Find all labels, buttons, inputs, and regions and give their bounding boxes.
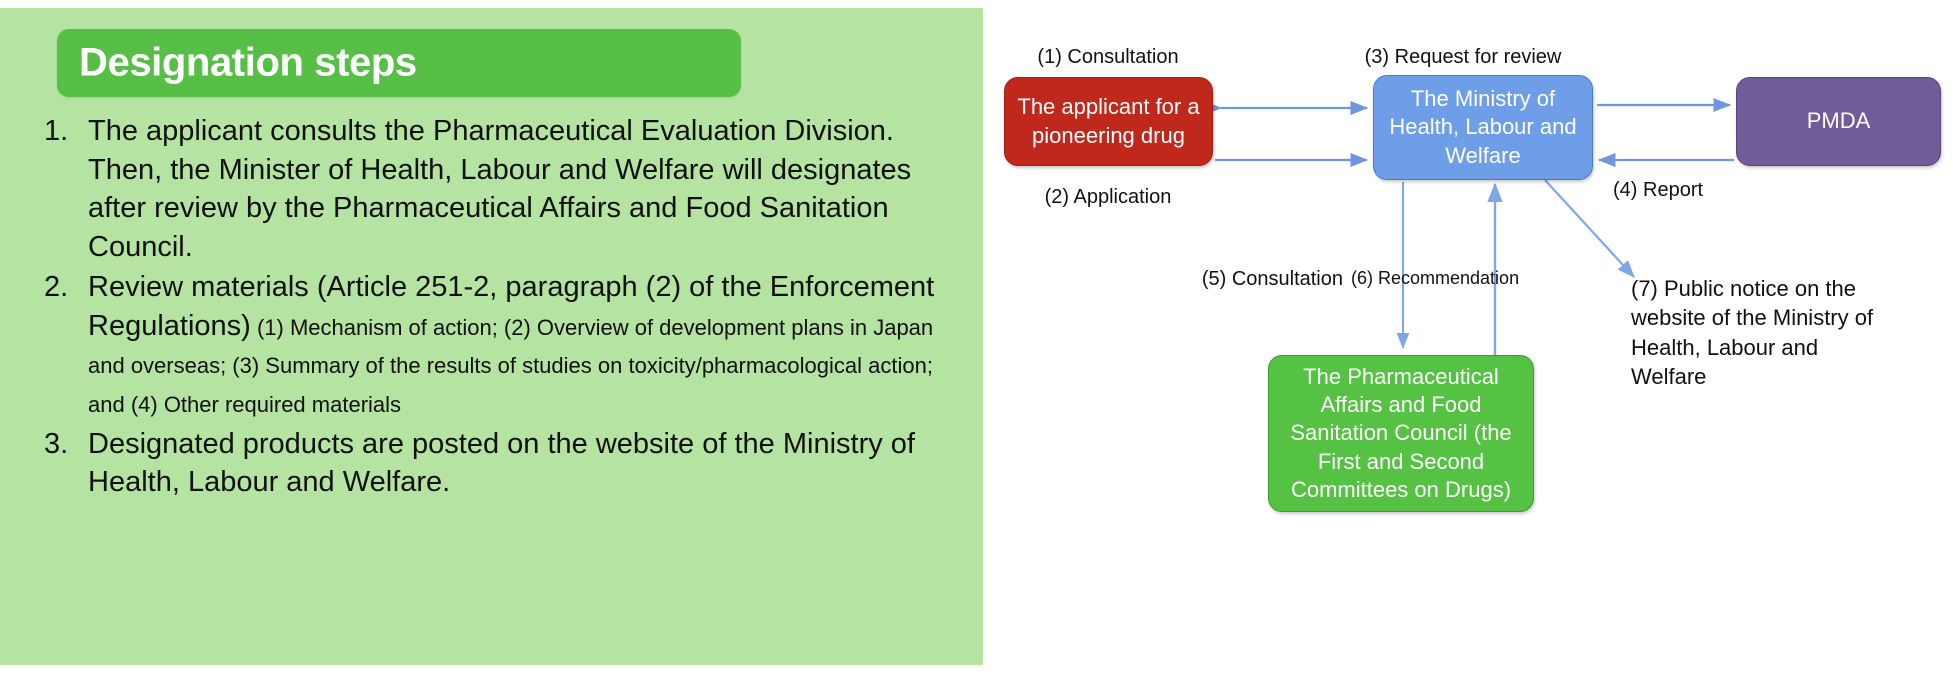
node-mhlw-label: The Ministry of Health, Labour and Welfa… xyxy=(1374,85,1592,169)
node-applicant[interactable]: The applicant for a pioneering drug xyxy=(1004,77,1213,166)
designation-steps-panel: Designation steps 1. The applicant consu… xyxy=(0,8,983,665)
step-number: 3. xyxy=(44,425,88,464)
edge-label-public-notice-7: (7) Public notice on the website of the … xyxy=(1631,274,1881,392)
step-number: 2. xyxy=(44,268,88,307)
panel-title-bar: Designation steps xyxy=(57,29,741,97)
list-item: 1. The applicant consults the Pharmaceut… xyxy=(44,112,944,266)
edge-label-request-for-review-3: (3) Request for review xyxy=(1228,46,1698,69)
node-applicant-label: The applicant for a pioneering drug xyxy=(1005,93,1212,149)
edge-label-application-2: (2) Application xyxy=(983,186,1233,209)
step-text: Review materials (Article 251-2, paragra… xyxy=(88,268,944,422)
step-text: Designated products are posted on the we… xyxy=(88,425,944,502)
step-number: 1. xyxy=(44,112,88,151)
edge-label-consultation-1: (1) Consultation xyxy=(983,46,1233,69)
step-text: The applicant consults the Pharmaceutica… xyxy=(88,112,944,266)
steps-list: 1. The applicant consults the Pharmaceut… xyxy=(44,112,944,504)
list-item: 2. Review materials (Article 251-2, para… xyxy=(44,268,944,422)
list-item: 3. Designated products are posted on the… xyxy=(44,425,944,502)
node-pmda[interactable]: PMDA xyxy=(1736,77,1941,166)
node-council-label: The Pharmaceutical Affairs and Food Sani… xyxy=(1269,363,1533,504)
page-title: Designation steps xyxy=(79,41,417,86)
edge-label-report-4: (4) Report xyxy=(1613,179,1813,202)
designation-flow-diagram: The applicant for a pioneering drug The … xyxy=(983,0,1953,690)
node-pmda-label: PMDA xyxy=(1737,107,1940,135)
edge-label-consultation-5: (5) Consultation xyxy=(1113,268,1343,291)
node-pharmaceutical-affairs-food-sanitation-council[interactable]: The Pharmaceutical Affairs and Food Sani… xyxy=(1268,355,1534,512)
node-ministry-of-health-labour-welfare[interactable]: The Ministry of Health, Labour and Welfa… xyxy=(1373,75,1593,180)
